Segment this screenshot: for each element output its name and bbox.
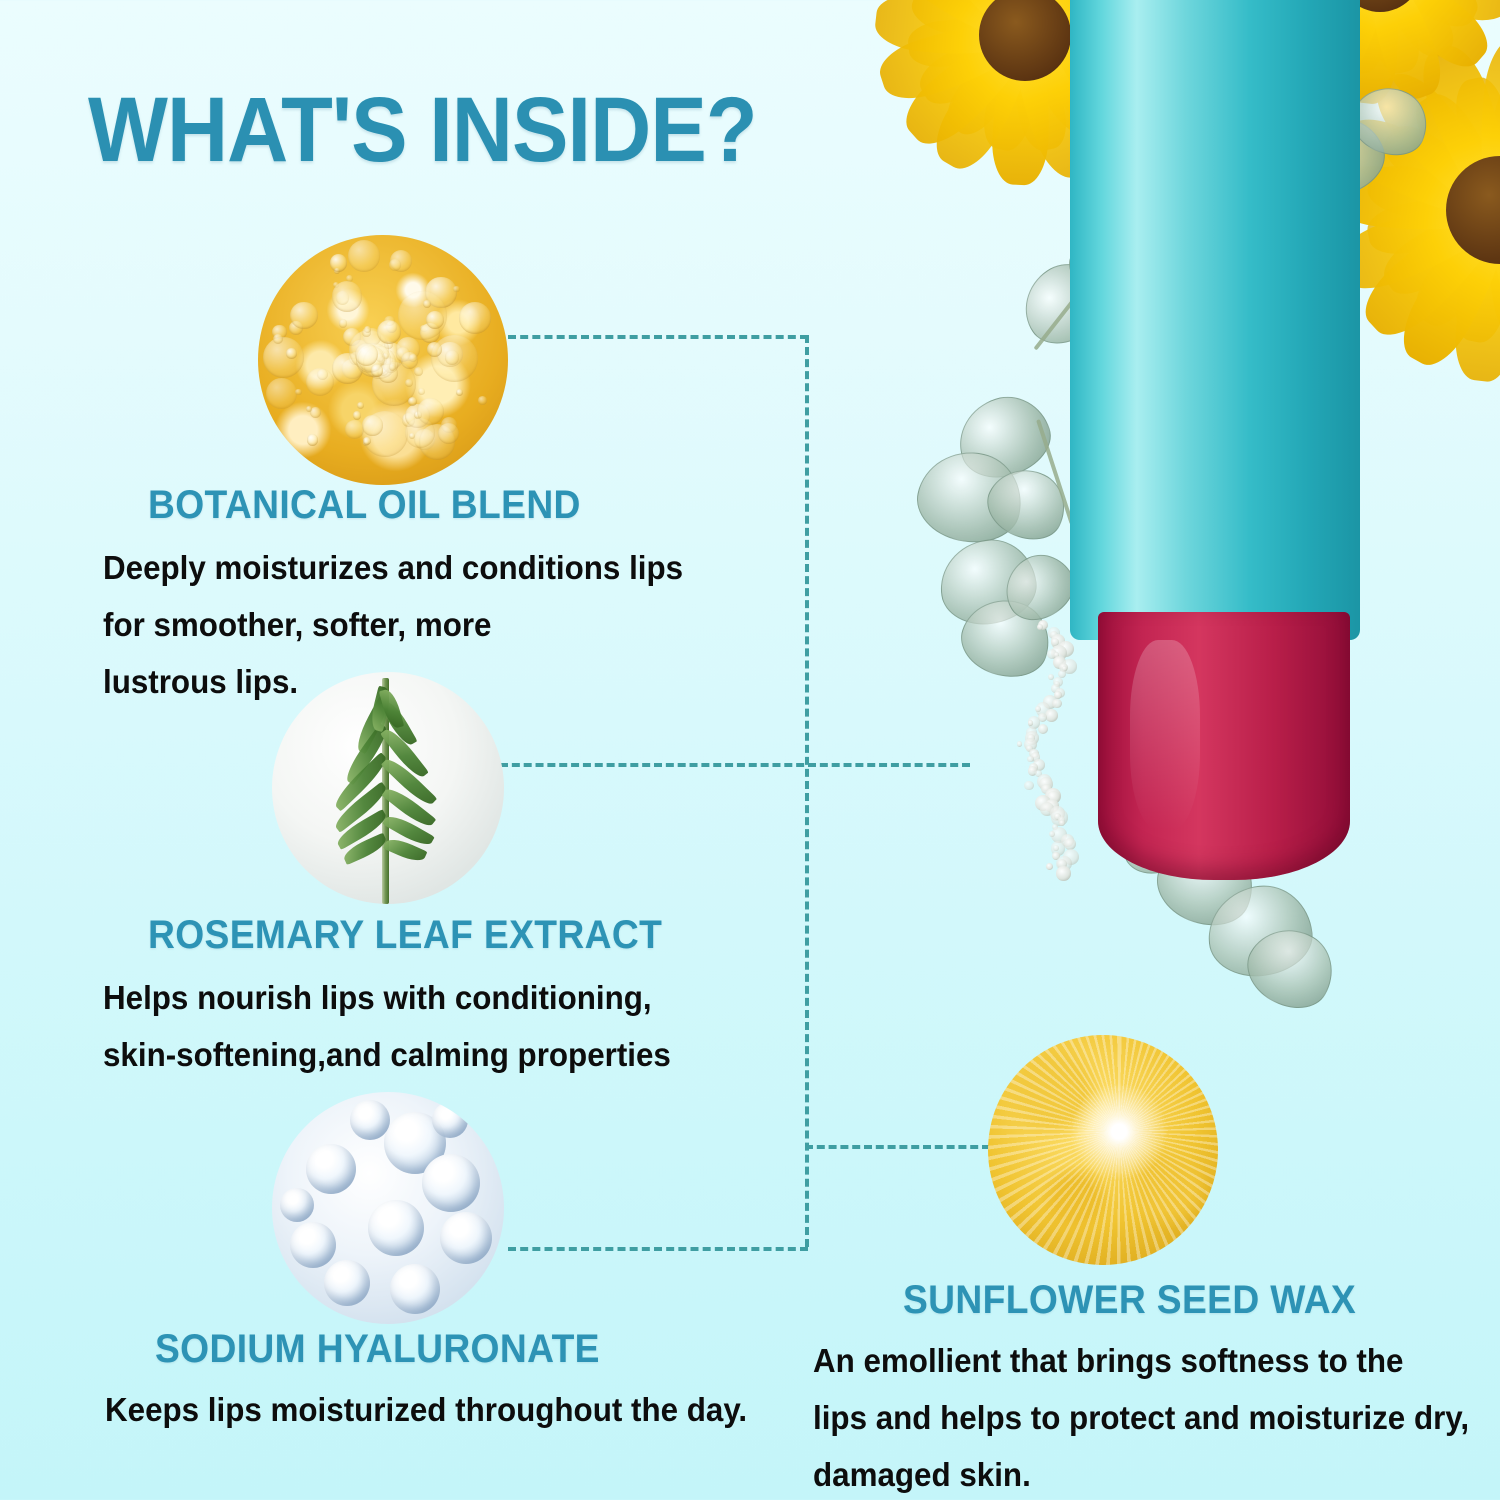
ingredient-description: An emollient that brings softness to the… [813,1333,1500,1500]
oil-bubble [414,367,423,376]
water-bubble [422,1154,480,1212]
connector-hyaluronate-horizontal [508,1247,808,1251]
oil-bubble [348,240,380,272]
oil-bubble [405,379,413,387]
lip-balm-tube-body [1070,0,1360,640]
ingredient-sodium-hyaluronate: SODIUM HYALURONATE Keeps lips moisturize… [155,1327,855,1439]
oil-bubble [405,418,435,448]
oil-bubble [286,348,296,358]
oil-bubble [362,328,371,337]
flower-cluster-bud [1046,863,1053,870]
description-line: Helps nourish lips with conditioning, [103,970,792,1027]
oil-bubble [427,342,442,357]
ingredient-title: ROSEMARY LEAF EXTRACT [148,913,780,958]
oil-bubble [426,311,444,329]
flower-cluster-bud [1017,741,1022,746]
description-line: lustrous lips. [103,654,773,711]
flower-cluster-bud [1056,866,1071,881]
connector-wax-horizontal [805,1145,990,1149]
ingredient-sunflower-seed-wax: SUNFLOWER SEED WAX An emollient that bri… [903,1278,1500,1500]
water-bubble [306,1144,356,1194]
balm-tip-highlight [1130,640,1200,830]
water-bubble [350,1100,390,1140]
oil-bubble [290,302,317,329]
flower-cluster-bud [1053,845,1059,851]
description-line: lips and helps to protect and moisturize… [813,1390,1469,1447]
flower-cluster-bud [1024,781,1033,790]
ingredient-rosemary-leaf-extract: ROSEMARY LEAF EXTRACT Helps nourish lips… [148,913,828,1084]
description-line: for smoother, softer, more [103,597,773,654]
oil-bubble [363,437,371,445]
golden-wax-sphere-swatch [988,1035,1218,1265]
ingredient-title: BOTANICAL OIL BLEND [148,483,762,528]
oil-bubble [389,363,396,370]
water-bubbles-swatch [272,1092,504,1324]
description-line: An emollient that brings softness to the [813,1333,1469,1390]
oil-bubble [438,423,459,444]
description-line: Keeps lips moisturized throughout the da… [105,1382,818,1439]
oil-bubble [306,368,334,396]
ingredient-description: Keeps lips moisturized throughout the da… [105,1382,855,1439]
water-bubble [290,1222,336,1268]
oil-bubble [266,378,297,409]
water-bubble [432,1102,468,1138]
oil-bubble [445,350,460,365]
connector-spine-vertical [805,335,809,1247]
flower-cluster-bud [1038,724,1049,735]
water-bubble [440,1212,492,1264]
flower-cluster-bud [1052,699,1062,709]
oil-bubble [453,286,459,292]
flower-cluster-bud [1035,706,1041,712]
connector-rosemary-horizontal [500,763,970,767]
ingredient-description: Helps nourish lips with conditioning, sk… [103,970,828,1084]
description-line: damaged skin. [813,1447,1469,1500]
oil-bubble [478,396,487,405]
water-bubble [390,1264,440,1314]
water-bubble [280,1188,314,1222]
oil-bubble [263,337,304,378]
water-bubble [324,1260,370,1306]
oil-bubble [332,281,362,311]
ingredient-botanical-oil-blend: BOTANICAL OIL BLEND Deeply moisturizes a… [148,483,808,710]
ingredient-title: SODIUM HYALURONATE [155,1327,806,1372]
oil-bubble [401,352,418,369]
oil-bubble [371,364,384,377]
oil-bubble [330,254,348,272]
oil-bubble [307,434,319,446]
description-line: skin-softening,and calming properties [103,1027,792,1084]
oil-bubble [353,411,361,419]
oil-bubble [362,415,382,435]
ingredient-description: Deeply moisturizes and conditions lips f… [103,540,808,710]
connector-oil-horizontal [508,335,808,339]
flower-cluster-bud [1045,709,1058,722]
flower-cluster-bud [1059,820,1065,826]
oil-bubble [389,259,401,271]
water-bubble [368,1200,424,1256]
oil-bubble [339,319,347,327]
oil-bubble [295,389,301,395]
ingredient-title: SUNFLOWER SEED WAX [903,1278,1461,1323]
oil-bubble [377,320,401,344]
flower-cluster-bud [1028,720,1034,726]
page-title: WHAT'S INSIDE? [88,78,757,183]
oil-bubble [357,402,365,410]
infographic-canvas: BOTANICAL OIL BLEND Deeply moisturizes a… [0,0,1500,1500]
golden-oil-bubbles-swatch [258,235,508,485]
oil-bubble [459,302,490,333]
description-line: Deeply moisturizes and conditions lips [103,540,773,597]
oil-bubble [456,389,463,396]
oil-bubble [418,388,425,395]
